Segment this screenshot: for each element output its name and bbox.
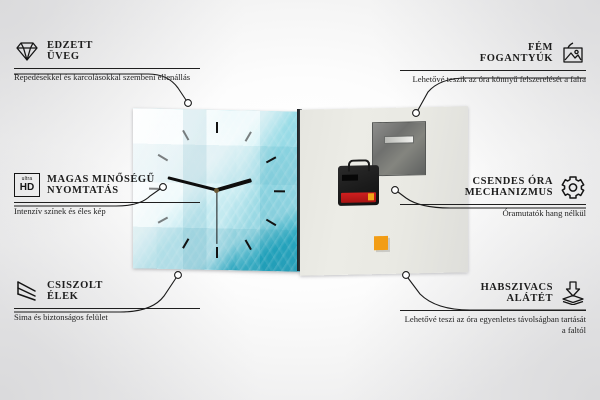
infographic-canvas: EDZETT ÜVEG Repedésekkel és karcolásokka…: [0, 0, 600, 400]
callout-leader-lines: [0, 0, 600, 400]
